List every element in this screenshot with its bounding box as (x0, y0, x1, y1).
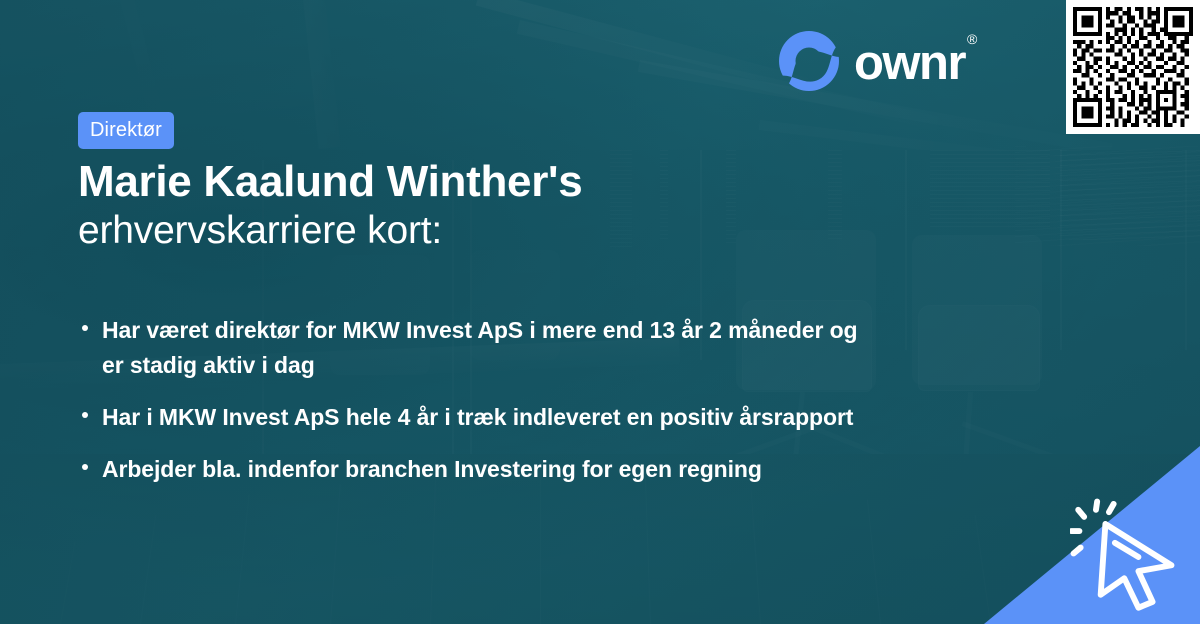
bullet-dot-icon (82, 412, 88, 418)
cta-corner-decoration (984, 446, 1200, 624)
card-content: Direktør Marie Kaalund Winther's erhverv… (0, 0, 1200, 624)
qr-code-panel[interactable] (1066, 0, 1200, 134)
ownr-circle-logo-icon (778, 30, 840, 92)
page-title: Marie Kaalund Winther's (78, 158, 582, 206)
list-item: Har i MKW Invest ApS hele 4 år i træk in… (78, 400, 878, 435)
list-item: Arbejder bla. indenfor branchen Invester… (78, 452, 878, 487)
ownr-wordmark: ownr (854, 39, 965, 88)
role-badge: Direktør (78, 112, 174, 149)
click-cursor-icon (1070, 498, 1188, 616)
qr-code-icon (1073, 7, 1193, 127)
list-item-text: Arbejder bla. indenfor branchen Invester… (102, 456, 762, 482)
bullet-dot-icon (82, 464, 88, 470)
blue-triangle-shape (984, 446, 1200, 624)
page-subtitle: erhvervskarriere kort: (78, 210, 442, 253)
career-card: Direktør Marie Kaalund Winther's erhverv… (0, 0, 1200, 624)
list-item: Har været direktør for MKW Invest ApS i … (78, 313, 878, 383)
registered-trademark-icon: ® (967, 31, 977, 47)
ownr-logo[interactable]: ownr ® (778, 30, 1024, 92)
bullet-dot-icon (82, 325, 88, 331)
career-facts-list: Har været direktør for MKW Invest ApS i … (78, 313, 878, 487)
list-item-text: Har været direktør for MKW Invest ApS i … (102, 317, 858, 378)
list-item-text: Har i MKW Invest ApS hele 4 år i træk in… (102, 404, 853, 430)
